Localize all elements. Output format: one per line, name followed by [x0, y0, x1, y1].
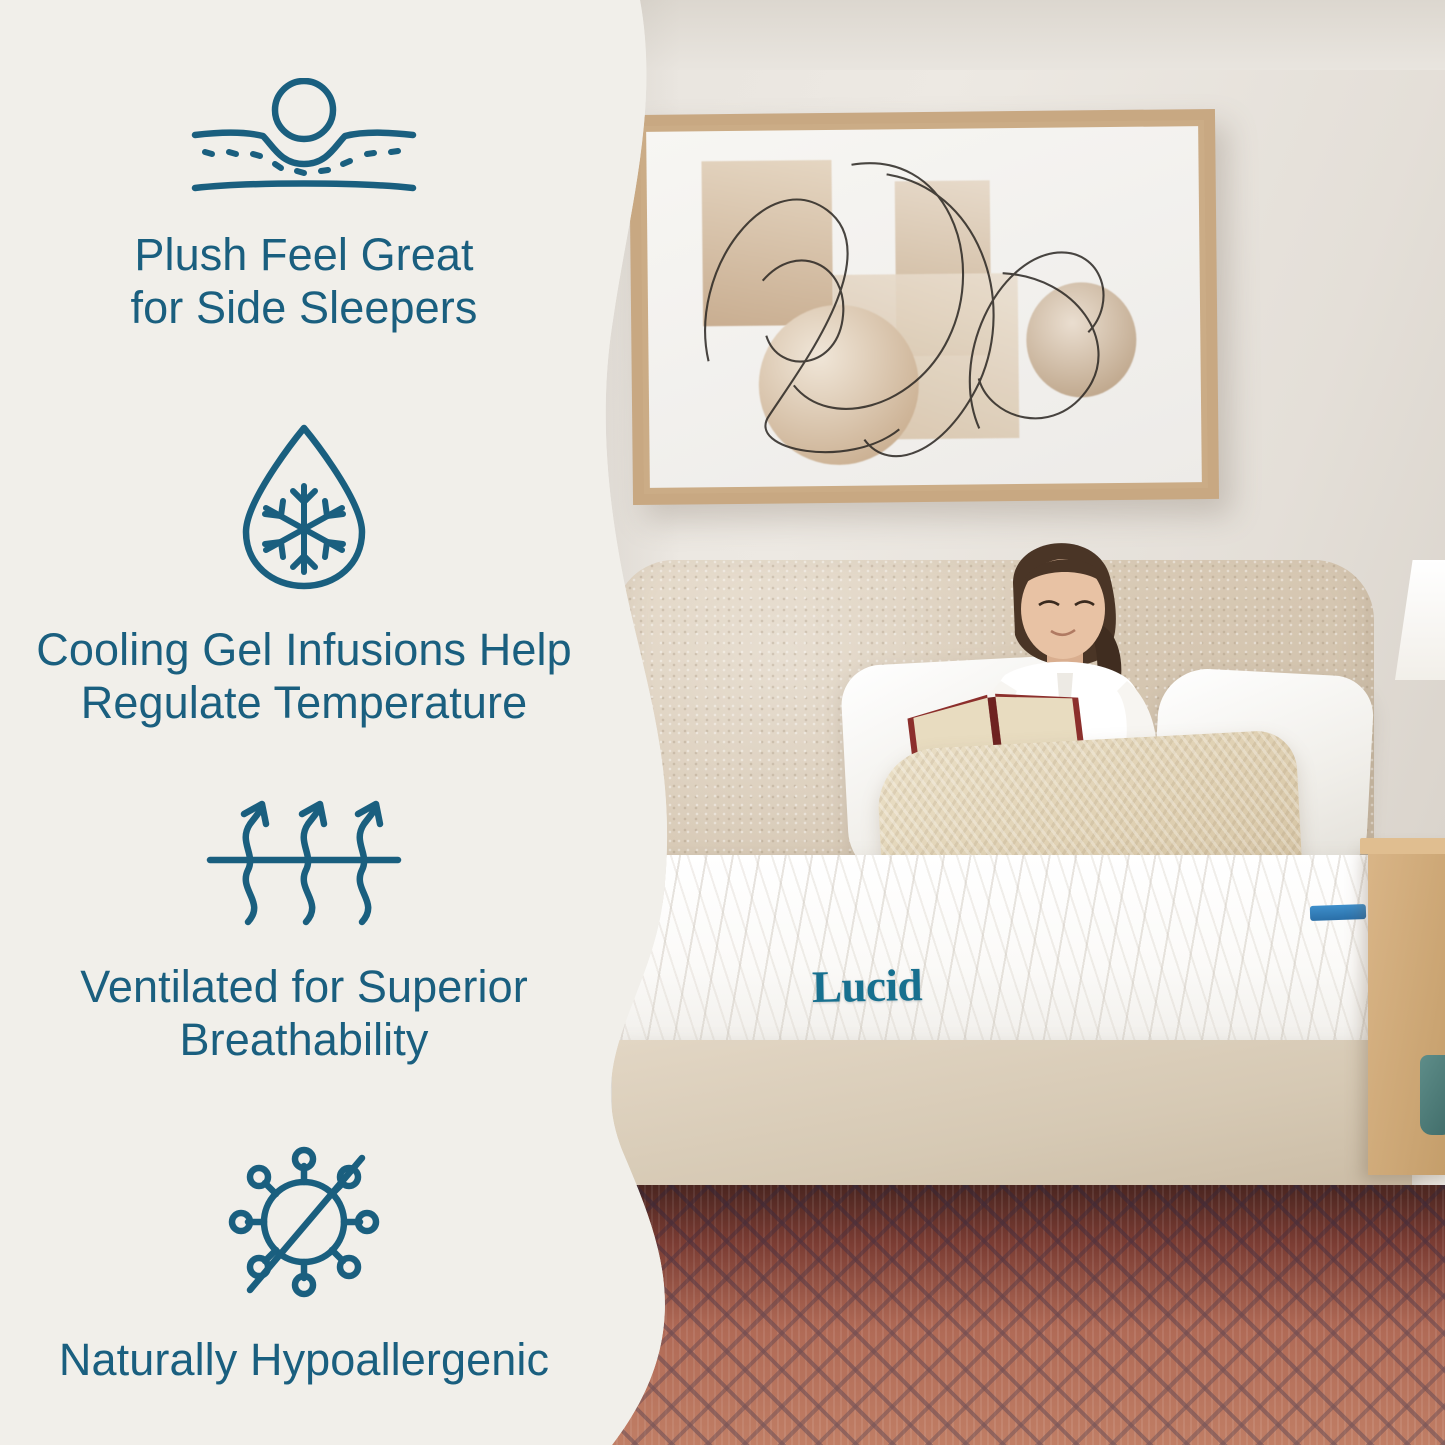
feature-item-cooling-gel: Cooling Gel Infusions Help Regulate Temp… [0, 420, 608, 729]
product-feature-graphic: Lucid [0, 0, 1445, 1445]
feature-panel: Plush Feel Great for Side Sleepers Coo [0, 0, 690, 1445]
cooling-gel-droplet-snowflake-icon [234, 420, 374, 595]
feature-label: Cooling Gel Infusions Help Regulate Temp… [0, 623, 608, 729]
feature-label: Naturally Hypoallergenic [0, 1333, 608, 1386]
airflow-ventilation-arrows-icon [204, 790, 404, 930]
area-rug [560, 1185, 1445, 1445]
ceiling [560, 0, 1445, 70]
feature-label: Ventilated for Superior Breathability [0, 960, 608, 1066]
hypoallergenic-allergen-blocked-icon [222, 1140, 387, 1305]
framed-art [629, 109, 1219, 505]
brand-tab [1310, 904, 1366, 921]
artwork-canvas [646, 126, 1202, 488]
feature-item-side-sleepers: Plush Feel Great for Side Sleepers [0, 78, 608, 334]
vase [1420, 1055, 1445, 1135]
mattress [600, 855, 1410, 1055]
bed-base [612, 1040, 1412, 1205]
feature-item-hypoallergenic: Naturally Hypoallergenic [0, 1140, 608, 1386]
lucid-logo: Lucid [812, 959, 923, 1013]
art-scribble-lines [646, 126, 1202, 488]
feature-item-ventilated: Ventilated for Superior Breathability [0, 790, 608, 1066]
body-pressure-relief-icon [189, 78, 419, 196]
feature-label: Plush Feel Great for Side Sleepers [0, 228, 608, 334]
nightstand-top [1360, 838, 1445, 854]
